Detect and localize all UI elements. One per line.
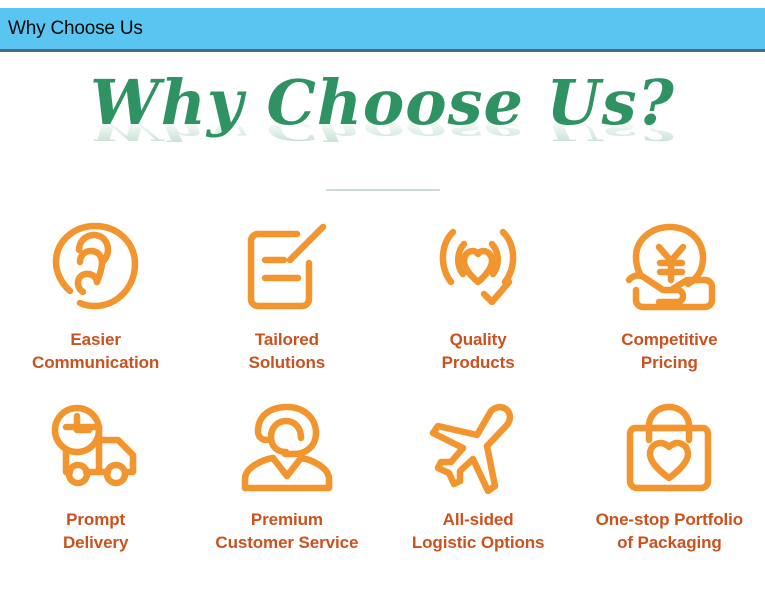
feature-label: Premium Customer Service — [215, 508, 358, 554]
feature-label: Easier Communication — [32, 328, 159, 374]
feature-item-tailored-solutions[interactable]: Tailored Solutions — [191, 216, 382, 374]
feature-item-easier-communication[interactable]: Easier Communication — [0, 216, 191, 374]
heart-signal-check-icon — [429, 216, 527, 320]
window-title: Why Choose Us — [0, 18, 143, 40]
hero-heading-block: Why Choose Us? Why Choose Us? — [0, 62, 765, 172]
hand-yen-coin-icon — [619, 216, 719, 320]
titlebar-container: Why Choose Us — [0, 0, 765, 52]
feature-label: Competitive Pricing — [621, 328, 717, 374]
delivery-truck-clock-icon — [46, 396, 146, 500]
airplane-icon — [429, 396, 527, 500]
ear-listening-icon — [50, 216, 142, 320]
feature-item-one-stop-portfolio-packaging[interactable]: One-stop Portfolio of Packaging — [574, 396, 765, 554]
feature-item-quality-products[interactable]: Quality Products — [383, 216, 574, 374]
document-pen-icon — [240, 216, 334, 320]
window-titlebar: Why Choose Us — [0, 8, 765, 52]
feature-item-all-sided-logistic-options[interactable]: All-sided Logistic Options — [383, 396, 574, 554]
feature-label: Tailored Solutions — [249, 328, 326, 374]
feature-label: All-sided Logistic Options — [412, 508, 545, 554]
headset-agent-icon — [237, 396, 337, 500]
feature-item-competitive-pricing[interactable]: Competitive Pricing — [574, 216, 765, 374]
section-divider — [326, 189, 440, 191]
feature-label: Prompt Delivery — [63, 508, 128, 554]
feature-item-prompt-delivery[interactable]: Prompt Delivery — [0, 396, 191, 554]
feature-grid: Easier Communication Tailored Solutions — [0, 216, 765, 554]
feature-label: One-stop Portfolio of Packaging — [596, 508, 743, 554]
divider-container — [0, 178, 765, 190]
feature-label: Quality Products — [442, 328, 515, 374]
page-title: Why Choose Us? — [0, 62, 765, 144]
feature-item-premium-customer-service[interactable]: Premium Customer Service — [191, 396, 382, 554]
shopping-bag-heart-icon — [622, 396, 716, 500]
